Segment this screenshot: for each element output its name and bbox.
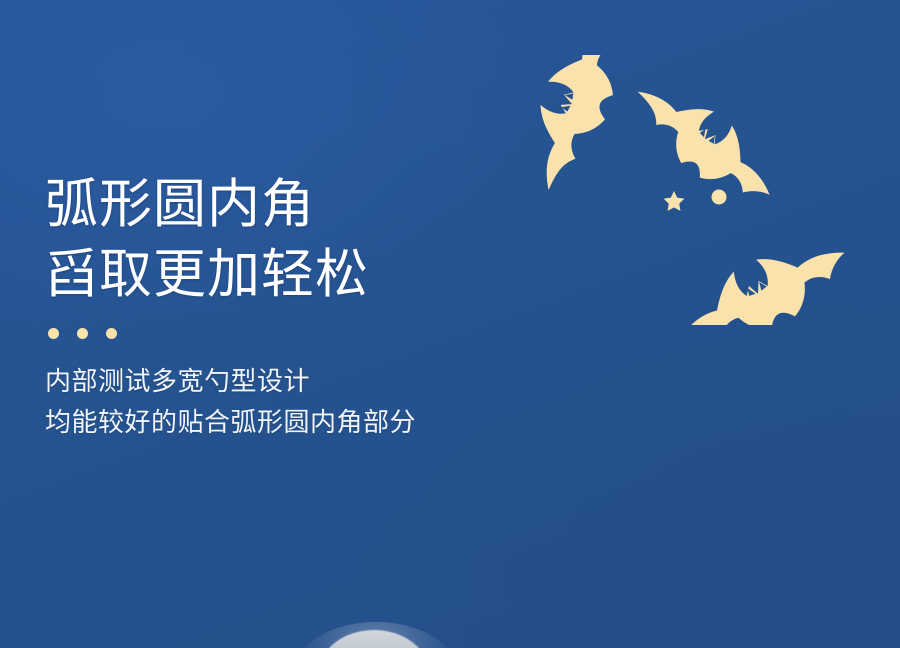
star-decoration-icon — [664, 191, 685, 211]
subtitle-block: 内部测试多宽勺型设计 均能较好的贴合弧形圆内角部分 — [45, 361, 515, 443]
moon-dot-decoration-icon — [712, 190, 727, 205]
bat-left-icon — [516, 55, 635, 200]
headline-line-2: 舀取更加轻松 — [45, 240, 515, 310]
dot-separator — [48, 328, 515, 339]
bat-top-right-icon — [619, 67, 788, 218]
subtitle-line-2: 均能较好的贴合弧形圆内角部分 — [45, 402, 515, 443]
dot-3-icon — [106, 328, 117, 339]
promo-banner: 弧形圆内角 舀取更加轻松 内部测试多宽勺型设计 均能较好的贴合弧形圆内角部分 — [0, 0, 900, 648]
text-block: 弧形圆内角 舀取更加轻松 内部测试多宽勺型设计 均能较好的贴合弧形圆内角部分 — [45, 170, 515, 443]
dot-2-icon — [77, 328, 88, 339]
headline-line-1: 弧形圆内角 — [45, 170, 515, 240]
bat-bottom-right-icon — [662, 222, 860, 325]
subtitle-line-1: 内部测试多宽勺型设计 — [45, 361, 515, 402]
dot-1-icon — [48, 328, 59, 339]
bat-cluster-illustration — [505, 55, 865, 325]
